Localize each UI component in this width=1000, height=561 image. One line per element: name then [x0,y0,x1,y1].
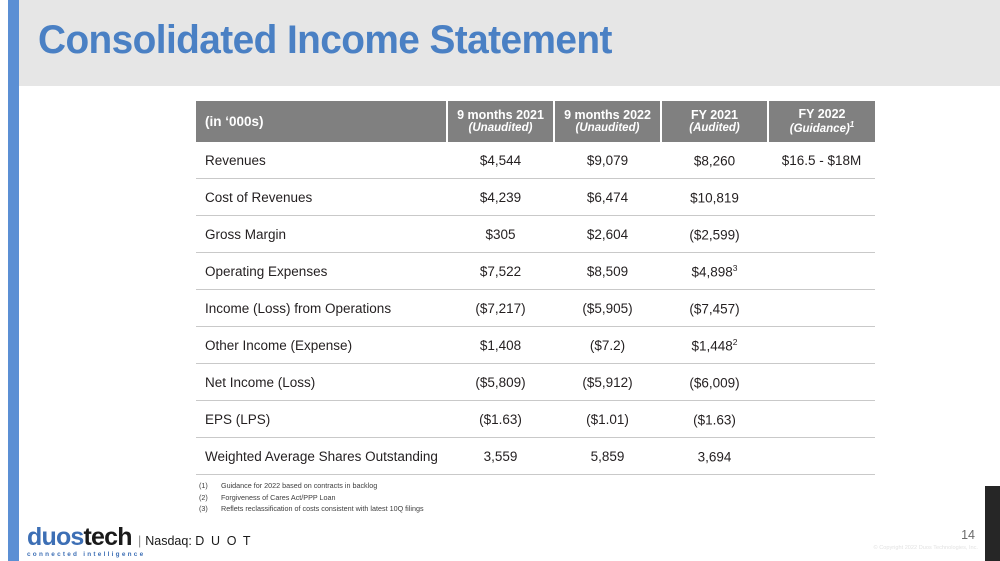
slide-canvas: Consolidated Income Statement (in ‘000s)… [0,0,1000,561]
table-body: Revenues $4,544 $9,079 $8,260 $16.5 - $1… [196,142,875,475]
cell-9m-2022: ($1.01) [554,401,661,438]
cell-fy-2022 [768,327,875,364]
copyright-notice: © Copyright 2022 Duos Technologies, Inc. [874,545,978,551]
logo-text-tech: tech [84,523,132,551]
footnote-item: (3)Reflets reclassification of costs con… [199,503,424,515]
cell-9m-2022: $2,604 [554,216,661,253]
row-label: Cost of Revenues [196,179,447,216]
cell-fy-2022 [768,438,875,475]
table-row: EPS (LPS) ($1.63) ($1.01) ($1.63) [196,401,875,438]
cell-fy-2021: $10,819 [661,179,768,216]
cell-9m-2021: $1,408 [447,327,554,364]
column-header-9m-2022: 9 months 2022 (Unaudited) [554,101,661,142]
income-statement-table: (in ‘000s) 9 months 2021 (Unaudited) 9 m… [196,101,875,475]
footnote-text: Forgiveness of Cares Act/PPP Loan [221,493,336,502]
cell-fy-2021: ($7,457) [661,290,768,327]
cell-9m-2022: 5,859 [554,438,661,475]
duos-tech-logo: duostech connected intelligence [27,525,145,558]
cell-9m-2021: $7,522 [447,253,554,290]
cell-9m-2021: ($5,809) [447,364,554,401]
footnote-mark: (2) [199,492,221,504]
row-label: Revenues [196,142,447,179]
footnote-mark: (1) [199,480,221,492]
divider-glyph: | [138,534,141,548]
cell-fy-2022 [768,216,875,253]
column-header-label: (in ‘000s) [196,101,447,142]
column-header-9m-2021: 9 months 2021 (Unaudited) [447,101,554,142]
cell-9m-2021: $305 [447,216,554,253]
table-row: Cost of Revenues $4,239 $6,474 $10,819 [196,179,875,216]
column-header-title: 9 months 2022 [564,108,651,122]
column-header-subtitle: (Unaudited) [448,122,553,134]
column-header-subtitle: (Audited) [662,122,767,134]
table-row: Net Income (Loss) ($5,809) ($5,912) ($6,… [196,364,875,401]
table-header-row: (in ‘000s) 9 months 2021 (Unaudited) 9 m… [196,101,875,142]
footnote-item: (2)Forgiveness of Cares Act/PPP Loan [199,492,424,504]
row-label: Gross Margin [196,216,447,253]
cell-fy-2021: $4,8983 [661,253,768,290]
cell-fy-2021: ($1.63) [661,401,768,438]
cell-9m-2021: 3,559 [447,438,554,475]
row-label: Weighted Average Shares Outstanding [196,438,447,475]
cell-fy-2022 [768,401,875,438]
footnotes: (1)Guidance for 2022 based on contracts … [199,480,424,515]
column-header-subtitle: (Unaudited) [555,122,660,134]
page-title: Consolidated Income Statement [38,18,612,63]
column-header-fy-2021: FY 2021 (Audited) [661,101,768,142]
cell-9m-2021: ($7,217) [447,290,554,327]
cell-9m-2022: ($7.2) [554,327,661,364]
footnote-text: Reflets reclassification of costs consis… [221,504,424,513]
row-label: Operating Expenses [196,253,447,290]
footnote-text: Guidance for 2022 based on contracts in … [221,481,377,490]
table-row: Gross Margin $305 $2,604 ($2,599) [196,216,875,253]
table-row: Operating Expenses $7,522 $8,509 $4,8983 [196,253,875,290]
table-row: Revenues $4,544 $9,079 $8,260 $16.5 - $1… [196,142,875,179]
cell-9m-2021: ($1.63) [447,401,554,438]
column-header-subtitle: (Guidance)1 [769,121,875,135]
cell-fy-2021: ($6,009) [661,364,768,401]
cell-9m-2022: $6,474 [554,179,661,216]
exchange-label: Nasdaq: [145,534,192,548]
row-label: EPS (LPS) [196,401,447,438]
column-header-fy-2022: FY 2022 (Guidance)1 [768,101,875,142]
footnote-marker: 1 [850,120,854,129]
cell-fy-2022 [768,253,875,290]
ticker-symbol: D U O T [195,534,252,548]
cell-fy-2022: $16.5 - $18M [768,142,875,179]
table-row: Weighted Average Shares Outstanding 3,55… [196,438,875,475]
row-label: Income (Loss) from Operations [196,290,447,327]
cell-9m-2022: ($5,912) [554,364,661,401]
footnote-item: (1)Guidance for 2022 based on contracts … [199,480,424,492]
cell-9m-2022: ($5,905) [554,290,661,327]
footnote-marker: 3 [733,263,738,273]
table-row: Other Income (Expense) $1,408 ($7.2) $1,… [196,327,875,364]
cell-9m-2021: $4,544 [447,142,554,179]
cell-fy-2022 [768,364,875,401]
column-header-title: 9 months 2021 [457,108,544,122]
cell-fy-2022 [768,179,875,216]
cell-fy-2021: ($2,599) [661,216,768,253]
cell-9m-2021: $4,239 [447,179,554,216]
nasdaq-ticker-line: |Nasdaq: D U O T [138,534,252,548]
row-label: Other Income (Expense) [196,327,447,364]
cell-fy-2021: $1,4482 [661,327,768,364]
right-dark-bar [985,486,1000,561]
cell-fy-2021: $8,260 [661,142,768,179]
cell-9m-2022: $8,509 [554,253,661,290]
table-row: Income (Loss) from Operations ($7,217) (… [196,290,875,327]
footnote-mark: (3) [199,503,221,515]
page-number: 14 [961,528,975,542]
cell-9m-2022: $9,079 [554,142,661,179]
logo-text-duos: duos [27,523,84,551]
row-label: Net Income (Loss) [196,364,447,401]
logo-tagline: connected intelligence [27,552,145,558]
footnote-marker: 2 [733,337,738,347]
column-header-title: FY 2022 [798,107,845,121]
left-accent-bar [8,0,19,561]
cell-fy-2022 [768,290,875,327]
column-header-title: FY 2021 [691,108,738,122]
cell-fy-2021: 3,694 [661,438,768,475]
